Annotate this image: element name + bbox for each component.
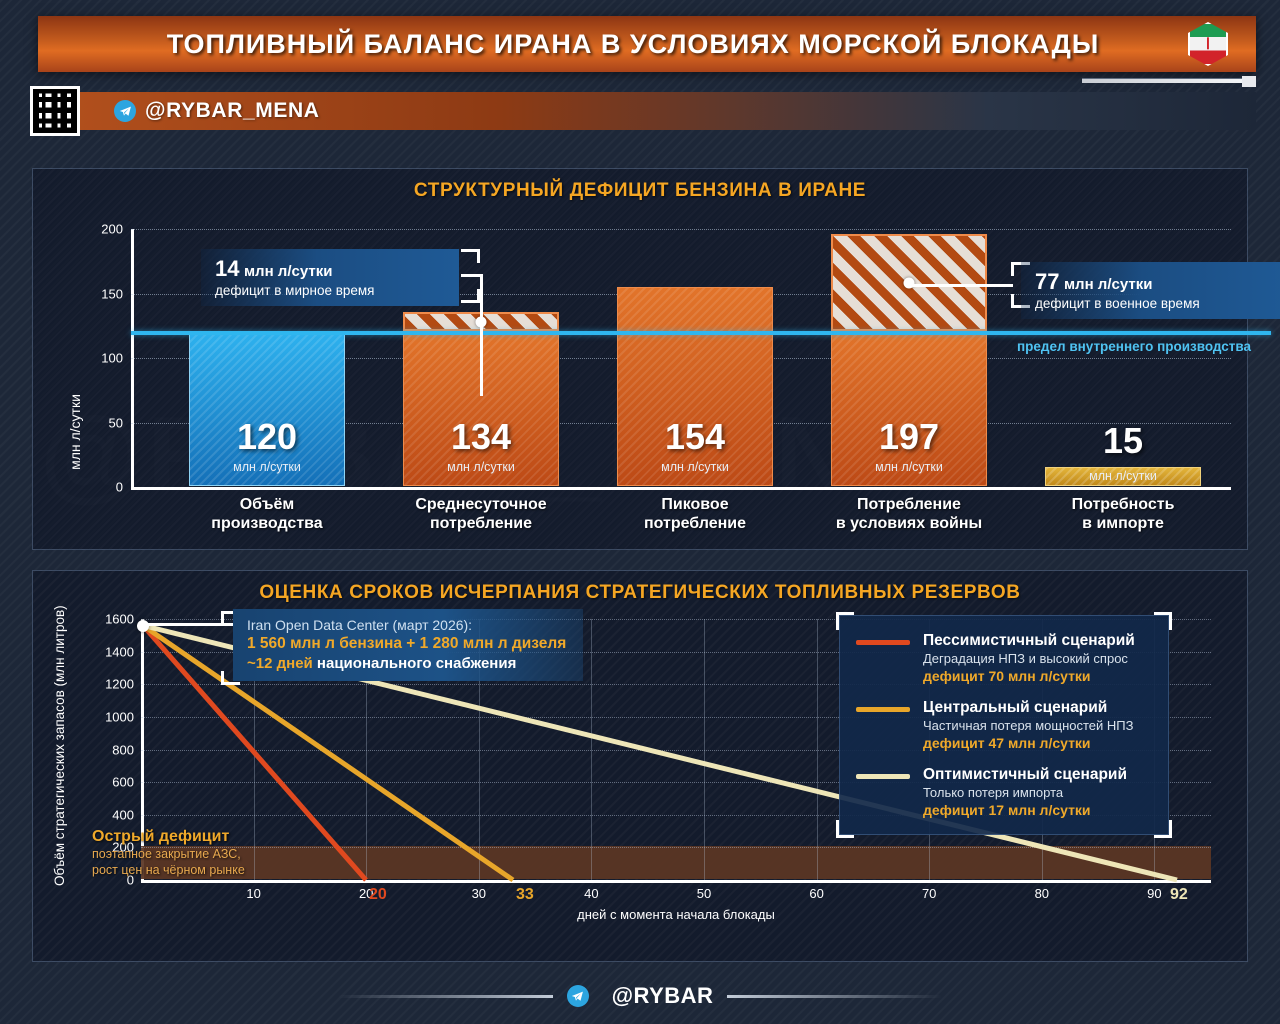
telegram-icon <box>567 985 589 1007</box>
qr-code-icon <box>30 86 80 136</box>
x-tick-label: 60 <box>809 886 823 901</box>
callout-value: 77 <box>1035 269 1059 294</box>
bar-chart-y-axis <box>131 229 134 490</box>
legend-item-optimistic[interactable]: Оптимистичный сценарий Только потеря имп… <box>856 766 1150 820</box>
bar-category-wartime-consumption: Потребление в условиях войны <box>803 495 1015 533</box>
header-bar: ТОПЛИВНЫЙ БАЛАНС ИРАНА В УСЛОВИЯХ МОРСКО… <box>38 16 1256 72</box>
header-divider <box>1082 78 1242 83</box>
bar-value-import: 15 <box>1045 423 1201 459</box>
bar-wartime-consumption: 197 млн л/сутки <box>831 331 987 486</box>
line-chart-y-axis-label: Объём стратегических запасов (млн литров… <box>52 605 67 886</box>
line-chart-panel: ОЦЕНКА СРОКОВ ИСЧЕРПАНИЯ СТРАТЕГИЧЕСКИХ … <box>32 570 1248 962</box>
bar-production: 120 млн л/сутки <box>189 331 345 486</box>
bar-chart-x-axis <box>131 487 1231 490</box>
x-tick-label: 30 <box>472 886 486 901</box>
y-tick-label: 1200 <box>105 677 134 692</box>
production-limit-line <box>131 331 1271 335</box>
y-tick-label: 150 <box>101 286 123 301</box>
info-source: Iran Open Data Center (март 2026): <box>247 617 571 633</box>
bar-value: 197 <box>832 419 986 455</box>
legend-corner <box>1154 612 1172 630</box>
info-days: ~12 дней национального снабжения <box>247 655 571 672</box>
x-tick-label: 10 <box>246 886 260 901</box>
callout-leader-line <box>913 284 1013 287</box>
legend-item-central[interactable]: Центральный сценарий Частичная потеря мо… <box>856 699 1150 753</box>
bar-value: 154 <box>618 419 772 455</box>
scenario-legend: Пессимистичный сценарий Деградация НПЗ и… <box>839 615 1169 835</box>
bar-peak-consumption: 154 млн л/сутки <box>617 287 773 486</box>
bar-chart-title: СТРУКТУРНЫЙ ДЕФИЦИТ БЕНЗИНА В ИРАНЕ <box>33 169 1247 202</box>
legend-deficit: дефицит 47 млн л/сутки <box>923 735 1091 751</box>
channel-name: @RYBAR_MENA <box>145 99 319 123</box>
x-tick-label: 50 <box>697 886 711 901</box>
bar-value: 120 <box>190 419 344 455</box>
callout-caption: дефицит в военное время <box>1035 296 1277 311</box>
y-tick-label: 600 <box>112 775 134 790</box>
callout-unit: млн л/сутки <box>244 263 333 280</box>
y-tick-label: 1000 <box>105 709 134 724</box>
bar-chart-plot-area: 200 150 100 50 0 120 млн л/сутки Объём п… <box>131 229 1231 489</box>
y-tick-label: 0 <box>116 480 123 495</box>
callout-wartime-deficit: 77 млн л/сутки дефицит в военное время <box>1021 262 1280 319</box>
legend-desc: Частичная потеря мощностей НПЗ <box>923 718 1133 733</box>
callout-unit: млн л/сутки <box>1064 276 1153 293</box>
endpoint-day-pessimistic: 20 <box>369 886 387 904</box>
bar-unit-label: млн л/сутки <box>190 460 344 474</box>
bar-unit-label: млн л/сутки <box>832 460 986 474</box>
acute-deficit-annotation: Острый дефицит поэтапное закрытие АЗС, р… <box>92 828 245 878</box>
line-chart-title: ОЦЕНКА СРОКОВ ИСЧЕРПАНИЯ СТРАТЕГИЧЕСКИХ … <box>33 571 1247 604</box>
legend-desc: Деградация НПЗ и высокий спрос <box>923 651 1128 666</box>
bar-import-need: млн л/сутки <box>1045 467 1201 486</box>
bar-unit-label: млн л/сутки <box>404 460 558 474</box>
x-tick-label: 80 <box>1035 886 1049 901</box>
legend-corner <box>836 820 854 838</box>
x-tick-label: 90 <box>1147 886 1161 901</box>
info-days-rest: национального снабжения <box>313 655 517 672</box>
bar-unit-label: млн л/сутки <box>1046 469 1200 483</box>
legend-title: Оптимистичный сценарий <box>923 766 1127 783</box>
bar-unit-label: млн л/сутки <box>618 460 772 474</box>
bar-category-production: Объём производства <box>169 495 365 533</box>
legend-swatch-icon <box>856 640 910 645</box>
footer-channel-name: @RYBAR <box>612 983 714 1009</box>
legend-corner <box>1154 820 1172 838</box>
endpoint-day-central: 33 <box>516 886 534 904</box>
production-limit-label: предел внутреннего производства <box>1017 339 1251 354</box>
deficit-segment-wartime <box>831 234 987 331</box>
legend-deficit: дефицит 17 млн л/сутки <box>923 802 1091 818</box>
acute-deficit-title: Острый дефицит <box>92 828 245 846</box>
info-volumes: 1 560 млн л бензина + 1 280 млн л дизеля <box>247 635 571 653</box>
y-tick-label: 100 <box>101 351 123 366</box>
footer-divider-left <box>338 995 553 998</box>
info-days-value: ~12 дней <box>247 655 313 672</box>
x-tick-label: 70 <box>922 886 936 901</box>
gridline <box>131 229 1231 230</box>
telegram-icon <box>114 100 136 122</box>
legend-corner <box>836 612 854 630</box>
legend-desc: Только потеря импорта <box>923 785 1063 800</box>
y-tick-label: 1600 <box>105 612 134 627</box>
line-chart-x-axis-label: дней с момента начала блокады <box>141 907 1211 922</box>
iran-flag-hex-icon: ا <box>1188 22 1228 66</box>
acute-deficit-line2: рост цен на чёрном рынке <box>92 863 245 877</box>
bar-chart-panel: СТРУКТУРНЫЙ ДЕФИЦИТ БЕНЗИНА В ИРАНЕ млн … <box>32 168 1248 550</box>
bar-chart-y-axis-label: млн л/сутки <box>67 394 83 470</box>
bar-category-peak-consumption: Пиковое потребление <box>597 495 793 533</box>
acute-deficit-line1: поэтапное закрытие АЗС, <box>92 847 241 861</box>
channel-strip: @RYBAR_MENA <box>38 92 1256 130</box>
y-tick-label: 400 <box>112 807 134 822</box>
legend-swatch-icon <box>856 707 910 712</box>
bar-value: 134 <box>404 419 558 455</box>
y-tick-label: 200 <box>101 222 123 237</box>
callout-caption: дефицит в мирное время <box>215 283 445 298</box>
y-tick-label: 50 <box>109 415 123 430</box>
page-title: ТОПЛИВНЫЙ БАЛАНС ИРАНА В УСЛОВИЯХ МОРСКО… <box>38 29 1188 60</box>
bar-category-average-consumption: Среднесуточное потребление <box>383 495 579 533</box>
legend-deficit: дефицит 70 млн л/сутки <box>923 668 1091 684</box>
legend-title: Центральный сценарий <box>923 699 1107 716</box>
legend-swatch-icon <box>856 774 910 779</box>
callout-value: 14 <box>215 256 239 281</box>
endpoint-day-optimistic: 92 <box>1170 886 1188 904</box>
y-tick-label: 800 <box>112 742 134 757</box>
y-tick-label: 1400 <box>105 644 134 659</box>
callout-peacetime-deficit: 14 млн л/сутки дефицит в мирное время <box>201 249 459 306</box>
legend-title: Пессимистичный сценарий <box>923 632 1135 649</box>
info-box: Iran Open Data Center (март 2026): 1 560… <box>233 609 583 681</box>
footer: @RYBAR <box>0 972 1280 1020</box>
bar-category-import-need: Потребность в импорте <box>1025 495 1221 533</box>
footer-divider-right <box>727 995 942 998</box>
x-tick-label: 40 <box>584 886 598 901</box>
legend-item-pessimistic[interactable]: Пессимистичный сценарий Деградация НПЗ и… <box>856 632 1150 686</box>
callout-leader-line <box>480 274 483 396</box>
